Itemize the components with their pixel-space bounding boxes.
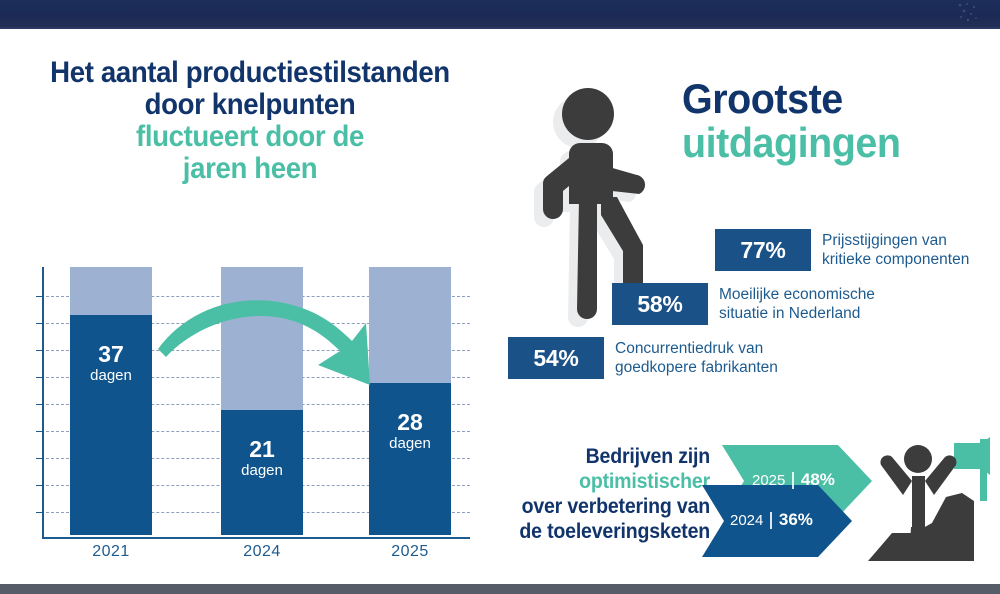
curved-down-arrow-icon (156, 293, 386, 393)
challenges-list: 77% Prijsstijgingen van kritieke compone… (500, 229, 1000, 379)
headline-line-4: jaren heen (29, 153, 471, 185)
challenge-percent-badge: 77% (715, 229, 811, 271)
arrow-divider (792, 472, 794, 489)
bar-value-fill (70, 315, 152, 535)
chart-x-axis (42, 537, 470, 539)
optimism-line-3: over verbetering van (519, 494, 710, 519)
x-label-2021: 2021 (51, 543, 171, 561)
optimism-line-4: de toeleveringsketen (519, 519, 710, 544)
y-tick (36, 350, 44, 351)
arrow-2025-percent: 48% (801, 470, 835, 490)
challenge-row-54[interactable]: 54% Concurrentiedruk van goedkopere fabr… (508, 337, 778, 379)
challenge-label: Prijsstijgingen van kritieke componenten (822, 231, 969, 269)
optimism-line-1: Bedrijven zijn (519, 444, 710, 469)
infographic-slide: Het aantal productiestilstanden door kne… (0, 0, 1000, 594)
y-tick (36, 377, 44, 378)
y-tick (36, 485, 44, 486)
right-headline: Grootste uitdagingen (682, 77, 901, 165)
downtime-bar-chart: 37 dagen 21 dagen (8, 267, 458, 579)
left-headline: Het aantal productiestilstanden door kne… (29, 57, 471, 185)
challenge-label: Concurrentiedruk van goedkopere fabrikan… (615, 339, 778, 377)
person-on-summit-with-flag-icon (862, 431, 1000, 571)
arrow-2025-label: 2025 48% (752, 470, 835, 490)
x-label-2024: 2024 (202, 543, 322, 561)
decorative-dots-icon (952, 2, 982, 26)
arrow-2024-year: 2024 (730, 512, 763, 529)
y-tick (36, 431, 44, 432)
bar-value-fill (221, 410, 303, 535)
y-tick (36, 404, 44, 405)
y-tick (36, 296, 44, 297)
right-headline-line-1: Grootste (682, 77, 901, 121)
right-headline-line-2: uitdagingen (682, 121, 901, 165)
y-tick (36, 458, 44, 459)
x-label-2025: 2025 (350, 543, 470, 561)
challenge-label: Moeilijke economische situatie in Nederl… (719, 285, 875, 323)
top-banner-bar (0, 0, 1000, 27)
bottom-chrome-bar (0, 584, 1000, 594)
arrow-divider (770, 512, 772, 529)
slide-canvas: Het aantal productiestilstanden door kne… (0, 29, 1000, 584)
challenge-percent-badge: 58% (612, 283, 708, 325)
challenge-row-77[interactable]: 77% Prijsstijgingen van kritieke compone… (715, 229, 969, 271)
y-tick (36, 512, 44, 513)
flag-pole (980, 439, 987, 501)
optimism-line-2: optimistischer (519, 469, 710, 494)
arrow-2025-year: 2025 (752, 472, 785, 489)
challenge-row-58[interactable]: 58% Moeilijke economische situatie in Ne… (612, 283, 875, 325)
optimism-headline: Bedrijven zijn optimistischer over verbe… (519, 444, 710, 544)
y-tick (36, 323, 44, 324)
headline-line-3: fluctueert door de (29, 121, 471, 153)
bar-value-fill (369, 383, 451, 535)
chart-plot-area: 37 dagen 21 dagen (26, 267, 451, 537)
bar-2021[interactable]: 37 dagen (70, 267, 152, 535)
headline-line-1: Het aantal productiestilstanden (29, 57, 471, 89)
arrow-2024-label: 2024 36% (730, 510, 813, 530)
chart-y-axis (42, 267, 44, 539)
arrow-2024-percent: 36% (779, 510, 813, 530)
headline-line-2: door knelpunten (29, 89, 471, 121)
challenge-percent-badge: 54% (508, 337, 604, 379)
